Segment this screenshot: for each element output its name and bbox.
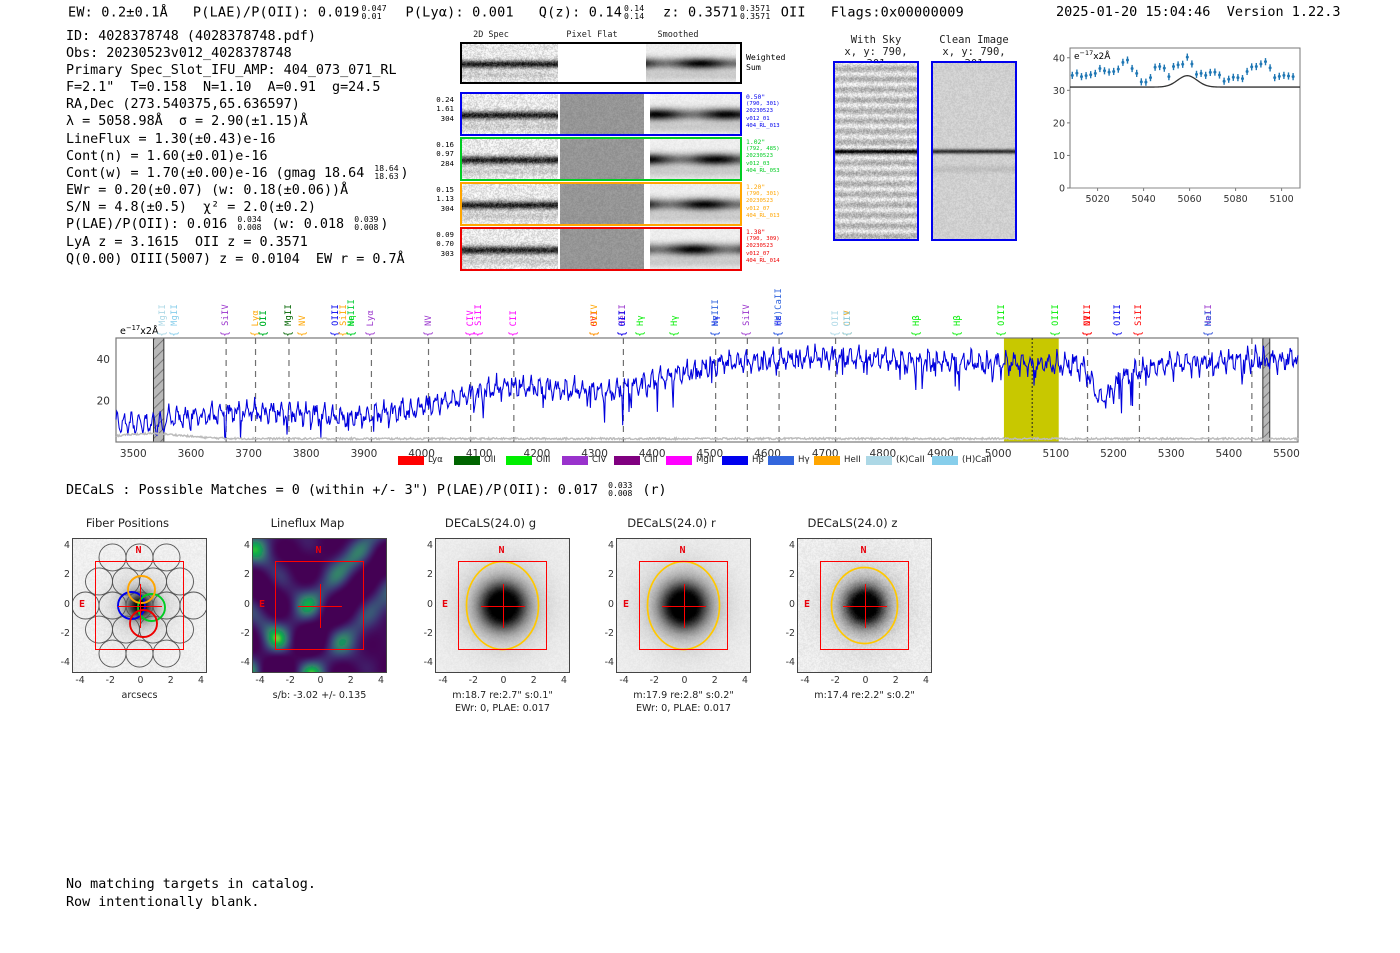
- y-tick-label: -2: [55, 628, 70, 639]
- crosshair-v: [865, 584, 866, 628]
- north-marker: N: [680, 545, 686, 556]
- north-marker: N: [861, 545, 867, 556]
- x-tick-label: 4: [556, 675, 572, 686]
- cutout-caption-2: EWr: 0, PLAE: 0.017: [590, 703, 777, 715]
- x-tick-label: -2: [646, 675, 662, 686]
- y-tick-label: -2: [418, 628, 433, 639]
- x-tick-label: -2: [102, 675, 118, 686]
- cutout-caption-1: s/b: -3.02 +/- 0.135: [226, 690, 413, 702]
- x-tick-label: 2: [888, 675, 904, 686]
- x-tick-label: 2: [343, 675, 359, 686]
- y-tick-label: 0: [55, 599, 70, 610]
- cutout-title: DECaLS(24.0) z: [773, 516, 932, 530]
- east-marker: E: [442, 599, 448, 610]
- x-tick-label: 4: [918, 675, 934, 686]
- cutout-title: DECaLS(24.0) g: [411, 516, 570, 530]
- x-tick-label: 2: [526, 675, 542, 686]
- x-tick-label: 4: [373, 675, 389, 686]
- footer-line2: Row intentionally blank.: [66, 895, 259, 910]
- x-tick-label: 0: [677, 675, 693, 686]
- y-tick-label: 2: [235, 569, 250, 580]
- x-tick-label: 2: [163, 675, 179, 686]
- cutout-caption-1: m:17.4 re:2.2" s:0.2": [771, 690, 958, 702]
- footer-line1: No matching targets in catalog.: [66, 877, 316, 892]
- cutout-frame: NE: [435, 538, 570, 673]
- cutout-title: Lineflux Map: [228, 516, 387, 530]
- x-tick-label: -4: [72, 675, 88, 686]
- y-tick-label: -4: [418, 657, 433, 668]
- x-tick-label: -4: [435, 675, 451, 686]
- x-tick-label: 2: [707, 675, 723, 686]
- x-tick-label: 0: [496, 675, 512, 686]
- north-marker: N: [136, 545, 142, 556]
- y-tick-label: 4: [418, 540, 433, 551]
- x-tick-label: -4: [616, 675, 632, 686]
- axis-xlabel: arcsecs: [60, 690, 219, 702]
- north-marker: N: [316, 545, 322, 556]
- y-tick-label: 4: [780, 540, 795, 551]
- y-tick-label: -4: [599, 657, 614, 668]
- north-marker: N: [499, 545, 505, 556]
- x-tick-label: 4: [193, 675, 209, 686]
- cutout-title: DECaLS(24.0) r: [592, 516, 751, 530]
- y-tick-label: 4: [55, 540, 70, 551]
- x-tick-label: 4: [737, 675, 753, 686]
- east-marker: E: [79, 599, 85, 610]
- y-tick-label: -4: [780, 657, 795, 668]
- east-marker: E: [259, 599, 265, 610]
- x-tick-label: -2: [282, 675, 298, 686]
- x-tick-label: -4: [797, 675, 813, 686]
- y-tick-label: 0: [418, 599, 433, 610]
- y-tick-label: -2: [235, 628, 250, 639]
- x-tick-label: -2: [465, 675, 481, 686]
- y-tick-label: -2: [599, 628, 614, 639]
- x-tick-label: 0: [133, 675, 149, 686]
- y-tick-label: 4: [599, 540, 614, 551]
- y-tick-label: 2: [55, 569, 70, 580]
- cutout-caption-1: m:18.7 re:2.7" s:0.1": [409, 690, 596, 702]
- x-tick-label: 0: [858, 675, 874, 686]
- cutout-frame: NE: [797, 538, 932, 673]
- x-tick-label: -2: [827, 675, 843, 686]
- cutout-caption-2: EWr: 0, PLAE: 0.017: [409, 703, 596, 715]
- cutout-frame: NE: [252, 538, 387, 673]
- crosshair-v: [140, 584, 141, 628]
- cutout-frame: NE: [72, 538, 207, 673]
- cutout-frame: NE: [616, 538, 751, 673]
- crosshair-v: [503, 584, 504, 628]
- cutout-caption-1: m:17.9 re:2.8" s:0.2": [590, 690, 777, 702]
- footer-notes: No matching targets in catalog. Row inte…: [66, 876, 316, 911]
- crosshair-v: [684, 584, 685, 628]
- y-tick-label: -4: [55, 657, 70, 668]
- cutout-title: Fiber Positions: [48, 516, 207, 530]
- y-tick-label: 2: [418, 569, 433, 580]
- crosshair-v: [320, 584, 321, 628]
- y-tick-label: 0: [599, 599, 614, 610]
- y-tick-label: -2: [780, 628, 795, 639]
- y-tick-label: 4: [235, 540, 250, 551]
- cutout-panels: Fiber PositionsNE-4-2024420-2-4arcsecsLi…: [0, 0, 1400, 760]
- y-tick-label: 2: [599, 569, 614, 580]
- y-tick-label: 0: [780, 599, 795, 610]
- y-tick-label: 2: [780, 569, 795, 580]
- x-tick-label: -4: [252, 675, 268, 686]
- east-marker: E: [804, 599, 810, 610]
- y-tick-label: 0: [235, 599, 250, 610]
- x-tick-label: 0: [313, 675, 329, 686]
- east-marker: E: [623, 599, 629, 610]
- y-tick-label: -4: [235, 657, 250, 668]
